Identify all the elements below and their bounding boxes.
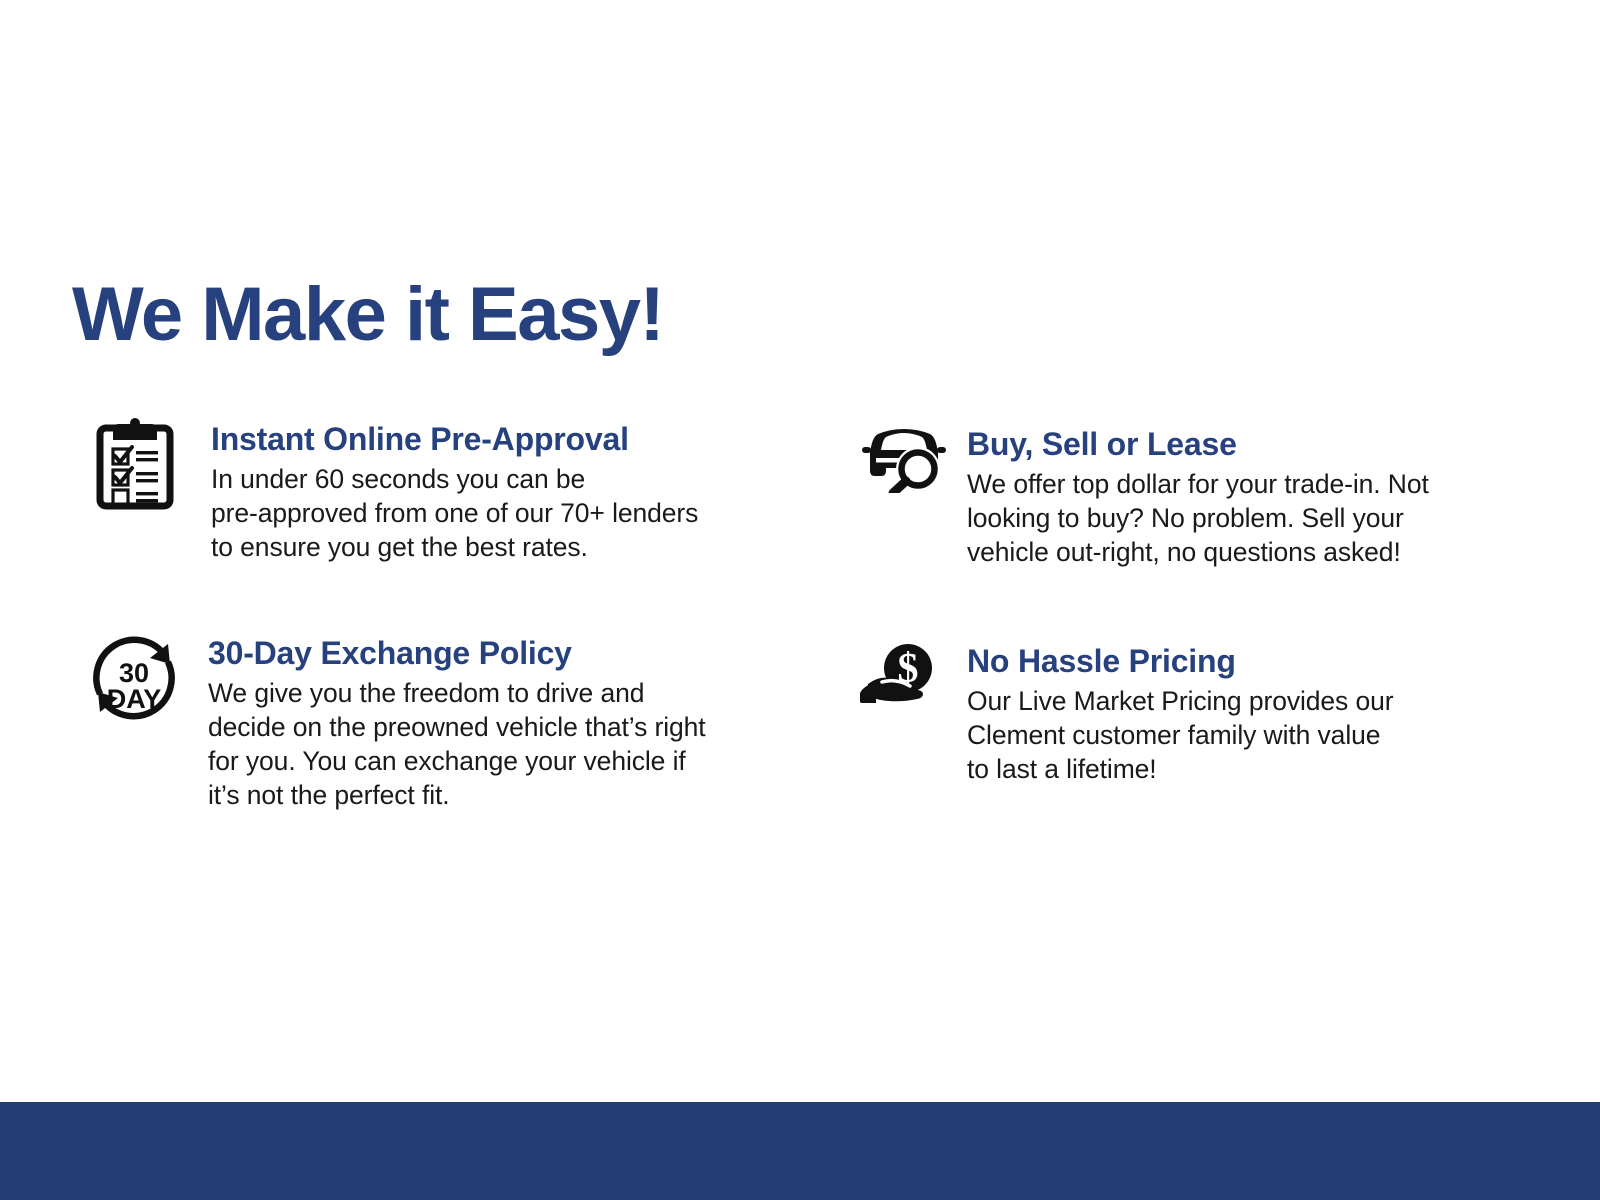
desc-line: In under 60 seconds you can be [211, 462, 796, 496]
feature-title: No Hassle Pricing [967, 642, 1520, 680]
desc-line: to last a lifetime! [967, 752, 1520, 786]
feature-title: Buy, Sell or Lease [967, 425, 1520, 463]
desc-line: it’s not the perfect fit. [208, 778, 788, 812]
feature-no-hassle-pricing: $ No Hassle Pricing Our Live Market Pric… [860, 640, 1520, 786]
desc-line: We offer top dollar for your trade-in. N… [967, 467, 1520, 501]
page-title: We Make it Easy! [72, 272, 663, 358]
feature-description: We offer top dollar for your trade-in. N… [967, 467, 1520, 569]
thirty-day-exchange-icon: 30 DAY [88, 632, 180, 724]
clipboard-checklist-icon [96, 418, 188, 510]
feature-30-day-exchange-policy: 30 DAY 30-Day Exchange Policy We give yo… [88, 632, 788, 812]
icon-text-day: DAY [107, 684, 162, 714]
feature-body: Instant Online Pre-Approval In under 60 … [211, 418, 796, 564]
desc-line: Our Live Market Pricing provides our [967, 684, 1520, 718]
feature-body: Buy, Sell or Lease We offer top dollar f… [967, 423, 1520, 569]
feature-description: We give you the freedom to drive and dec… [208, 676, 788, 812]
desc-line: We give you the freedom to drive and [208, 676, 788, 710]
feature-title: Instant Online Pre-Approval [211, 420, 796, 458]
feature-body: No Hassle Pricing Our Live Market Pricin… [967, 640, 1520, 786]
hand-holding-coin-icon: $ [860, 640, 960, 720]
desc-line: for you. You can exchange your vehicle i… [208, 744, 788, 778]
desc-line: Clement customer family with value [967, 718, 1520, 752]
feature-body: 30-Day Exchange Policy We give you the f… [208, 632, 788, 812]
slide-root: We Make it Easy! [0, 0, 1600, 1200]
desc-line: pre-approved from one of our 70+ lenders [211, 496, 796, 530]
bottom-accent-bar [0, 1102, 1600, 1200]
desc-line: decide on the preowned vehicle that’s ri… [208, 710, 788, 744]
car-magnifier-icon [860, 423, 960, 503]
feature-description: In under 60 seconds you can be pre-appro… [211, 462, 796, 564]
desc-line: looking to buy? No problem. Sell your [967, 501, 1520, 535]
feature-buy-sell-or-lease: Buy, Sell or Lease We offer top dollar f… [860, 423, 1520, 569]
desc-line: vehicle out-right, no questions asked! [967, 535, 1520, 569]
feature-instant-online-pre-approval: Instant Online Pre-Approval In under 60 … [96, 418, 796, 564]
desc-line: to ensure you get the best rates. [211, 530, 796, 564]
feature-description: Our Live Market Pricing provides our Cle… [967, 684, 1520, 786]
feature-title: 30-Day Exchange Policy [208, 634, 788, 672]
